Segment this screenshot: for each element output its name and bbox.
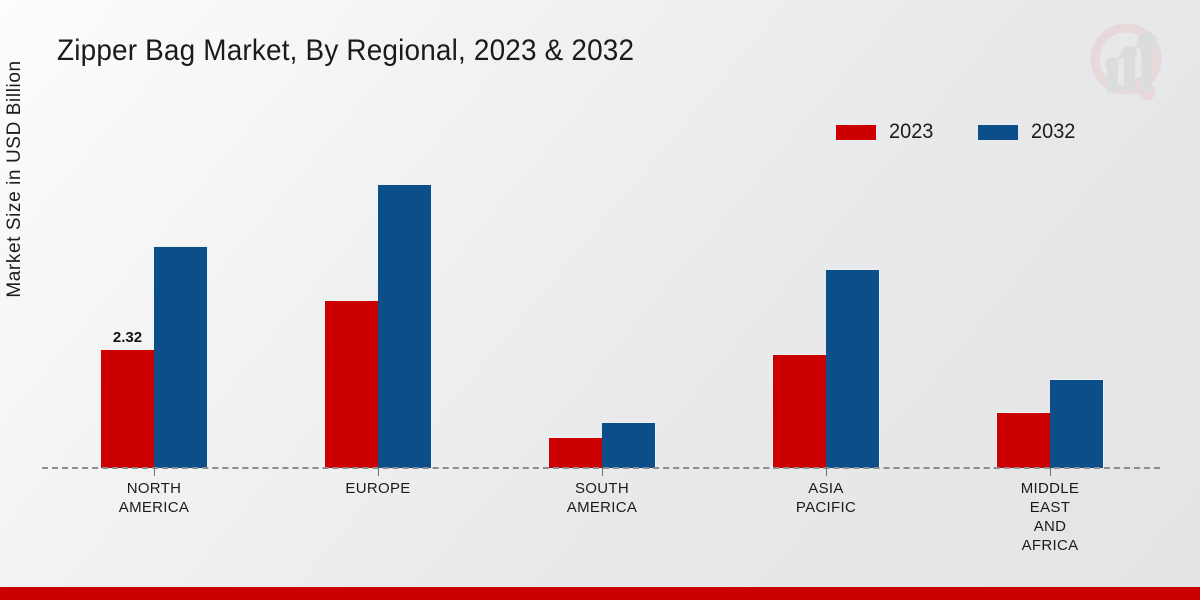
x-axis-tick	[154, 468, 155, 476]
legend-swatch-2023	[836, 125, 876, 140]
bar-2023-2[interactable]	[548, 437, 602, 468]
bar-group: 2.32	[100, 150, 208, 468]
page-title: Zipper Bag Market, By Regional, 2023 & 2…	[57, 34, 634, 68]
watermark-logo-icon	[1080, 12, 1184, 116]
bar-2032-4[interactable]	[1050, 379, 1104, 468]
bar-2032-3[interactable]	[826, 269, 880, 468]
footer-accent-bar	[0, 587, 1200, 600]
bar-2032-2[interactable]	[602, 422, 656, 468]
x-axis-category-label: EUROPE	[345, 479, 410, 498]
chart-legend: 2023 2032	[836, 120, 1077, 144]
bar-group	[324, 150, 432, 468]
legend-item-2032[interactable]: 2032	[978, 120, 1078, 144]
bar-2023-0[interactable]: 2.32	[100, 349, 154, 468]
bar-group	[996, 150, 1104, 468]
y-axis-label: Market Size in USD Billion	[4, 14, 26, 344]
bar-value-label: 2.32	[113, 329, 142, 346]
bar-group	[548, 150, 656, 468]
x-axis-category-label: MIDDLE EAST AND AFRICA	[1021, 479, 1079, 555]
x-axis-tick	[826, 468, 827, 476]
x-axis-tick	[602, 468, 603, 476]
x-axis-tick	[378, 468, 379, 476]
bar-2023-1[interactable]	[324, 300, 378, 468]
plot-area: 2.32	[42, 150, 1162, 468]
bar-2032-0[interactable]	[154, 246, 208, 468]
x-axis-tick	[1050, 468, 1051, 476]
chart-page: Zipper Bag Market, By Regional, 2023 & 2…	[0, 0, 1200, 600]
x-axis-baseline	[42, 467, 1160, 469]
x-axis-category-label: ASIA PACIFIC	[796, 479, 856, 517]
x-axis-category-label: NORTH AMERICA	[119, 479, 189, 517]
bar-2032-1[interactable]	[378, 184, 432, 468]
bar-2023-4[interactable]	[996, 412, 1050, 468]
legend-item-2023[interactable]: 2023	[836, 120, 936, 144]
legend-label-2023: 2023	[889, 120, 933, 144]
x-axis-category-label: SOUTH AMERICA	[567, 479, 637, 517]
bar-group	[772, 150, 880, 468]
bar-2023-3[interactable]	[772, 354, 826, 468]
legend-swatch-2032	[978, 125, 1018, 140]
legend-label-2032: 2032	[1031, 120, 1075, 144]
